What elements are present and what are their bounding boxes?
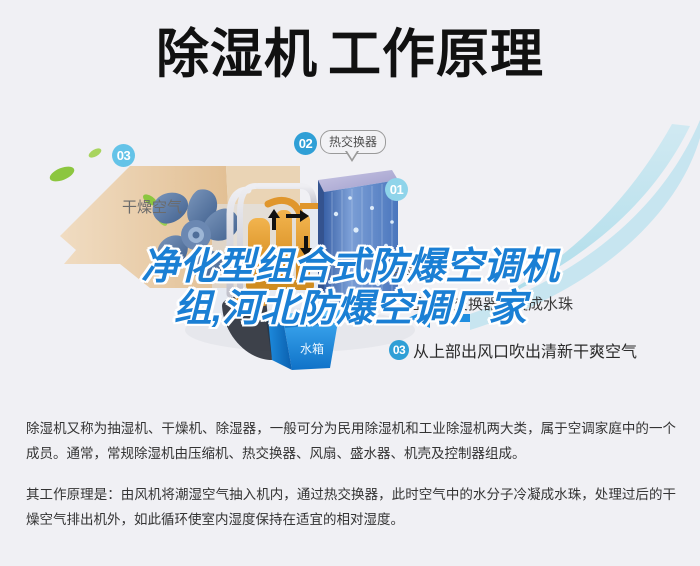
article-paragraph-1: 除湿机又称为抽湿机、干燥机、除湿器，一般可分为民用除湿机和工业除湿机两大类，属于… bbox=[26, 416, 676, 466]
article-body: 除湿机又称为抽湿机、干燥机、除湿器，一般可分为民用除湿机和工业除湿机两大类，属于… bbox=[26, 416, 676, 548]
page-title-part1: 除湿机 bbox=[156, 26, 318, 84]
label-water-tank: 水箱 bbox=[300, 340, 324, 357]
note-outlet-air: 从上部出风口吹出清新干爽空气 bbox=[413, 338, 637, 362]
working-principle-illustration: 03 干燥空气 02 热交换器 01 潮湿空气 水箱 经过热交换器冷凝成水珠 0… bbox=[0, 118, 700, 396]
humid-air-curve bbox=[478, 124, 690, 308]
article-paragraph-2: 其工作原理是：由风机将潮湿空气抽入机内，通过热交换器，此时空气中的水分子冷凝成水… bbox=[26, 482, 676, 532]
badge-step-2: 02 bbox=[294, 132, 317, 155]
page-title: 除湿机工作原理 bbox=[0, 26, 700, 84]
page-title-part2: 工作原理 bbox=[328, 26, 544, 84]
callout-tail-icon bbox=[345, 151, 359, 162]
note-condensation: 经过热交换器冷凝成水珠 bbox=[408, 293, 573, 314]
label-dry-air: 干燥空气 bbox=[122, 196, 182, 217]
badge-step-3-top: 03 bbox=[112, 144, 135, 167]
badge-step-1: 01 bbox=[385, 178, 408, 201]
badge-step-3-bottom: 03 bbox=[389, 340, 409, 360]
label-humid-air: 潮湿空气 bbox=[388, 258, 448, 279]
dehumidifier-infographic-page: 除湿机工作原理 bbox=[0, 0, 700, 566]
